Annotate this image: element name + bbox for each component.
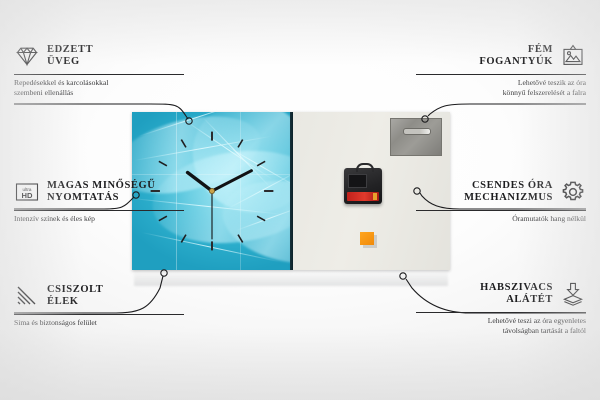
feature-title: FÉM FOGANTYÚK	[479, 44, 553, 69]
gear-icon	[560, 179, 586, 205]
feature-header: ultra HD MAGAS MINŐSÉGŰ NYOMTATÁS	[14, 176, 184, 208]
feature-high-quality-print[interactable]: ultra HD MAGAS MINŐSÉGŰ NYOMTATÁS Intenz…	[14, 176, 184, 224]
feature-title: HABSZIVACS ALÁTÉT	[480, 282, 553, 307]
divider	[416, 312, 586, 313]
clock-tick	[238, 235, 243, 243]
feature-desc-line1: Óramutatók hang nélkül	[416, 214, 586, 224]
divider	[14, 314, 184, 315]
feature-title: MAGAS MINŐSÉGŰ NYOMTATÁS	[47, 180, 155, 205]
infographic-canvas: EDZETT ÜVEG Repedésekkel és karcolásokka…	[0, 0, 600, 400]
connector-handles	[428, 104, 586, 116]
divider	[14, 210, 184, 211]
feature-desc-line1: Lehetővé teszi az óra egyenletes	[416, 316, 586, 326]
divider	[416, 74, 586, 75]
feature-header: CSISZOLT ÉLEK	[14, 280, 184, 312]
foam-pad-part	[360, 232, 374, 245]
feature-polished-edges[interactable]: CSISZOLT ÉLEK Sima és biztonságos felüle…	[14, 280, 184, 328]
picture-hanger-icon	[560, 43, 586, 69]
clock-tick	[159, 161, 167, 166]
mechanism-housing	[348, 174, 367, 188]
clock-tick	[238, 140, 243, 148]
feature-metal-handles[interactable]: FÉM FOGANTYÚK Lehetővé teszik az óra kön…	[416, 40, 586, 97]
feature-title: CSISZOLT ÉLEK	[47, 284, 103, 309]
metal-hanger-part	[390, 118, 442, 156]
clock-tick	[257, 216, 265, 221]
foam-pad-icon	[560, 281, 586, 307]
feature-tempered-glass[interactable]: EDZETT ÜVEG Repedésekkel és karcolásokka…	[14, 40, 184, 97]
clock-center-cap	[209, 188, 214, 193]
clock-mechanism-part	[344, 168, 382, 204]
hour-hand	[188, 173, 212, 191]
feature-desc-line1: Intenzív színek és éles kép	[14, 214, 184, 224]
clock-tick	[181, 235, 186, 243]
feature-silent-mechanism[interactable]: CSENDES ÓRA MECHANIZMUS Óramutatók hang …	[416, 176, 586, 224]
feature-title: EDZETT ÜVEG	[47, 44, 93, 69]
feature-header: HABSZIVACS ALÁTÉT	[416, 278, 586, 310]
feature-header: EDZETT ÜVEG	[14, 40, 184, 72]
feature-desc-line2: szembeni ellenállás	[14, 88, 184, 98]
diamond-icon	[14, 43, 40, 69]
mechanism-loop	[356, 163, 374, 172]
feature-desc-line1: Repedésekkel és karcolásokkal	[14, 78, 184, 88]
feature-desc-line2: könnyű felszerelését a falra	[416, 88, 586, 98]
beveled-edge-icon	[14, 283, 40, 309]
feature-desc-line2: távolságban tartását a faltól	[416, 326, 586, 336]
divider	[14, 74, 184, 75]
feature-header: FÉM FOGANTYÚK	[416, 40, 586, 72]
svg-text:HD: HD	[22, 191, 33, 200]
clock-tick	[181, 140, 186, 148]
battery-part	[347, 192, 379, 201]
feature-header: CSENDES ÓRA MECHANIZMUS	[416, 176, 586, 208]
feature-foam-backing[interactable]: HABSZIVACS ALÁTÉT Lehetővé teszi az óra …	[416, 278, 586, 335]
minute-hand	[212, 171, 251, 191]
hanger-slot	[403, 128, 431, 135]
feature-desc-line1: Sima és biztonságos felület	[14, 318, 184, 328]
clock-tick	[257, 161, 265, 166]
divider	[416, 210, 586, 211]
feature-title: CSENDES ÓRA MECHANIZMUS	[464, 180, 553, 205]
feature-desc-line1: Lehetővé teszik az óra	[416, 78, 586, 88]
ultra-hd-icon: ultra HD	[14, 179, 40, 205]
battery-terminal	[373, 193, 377, 200]
